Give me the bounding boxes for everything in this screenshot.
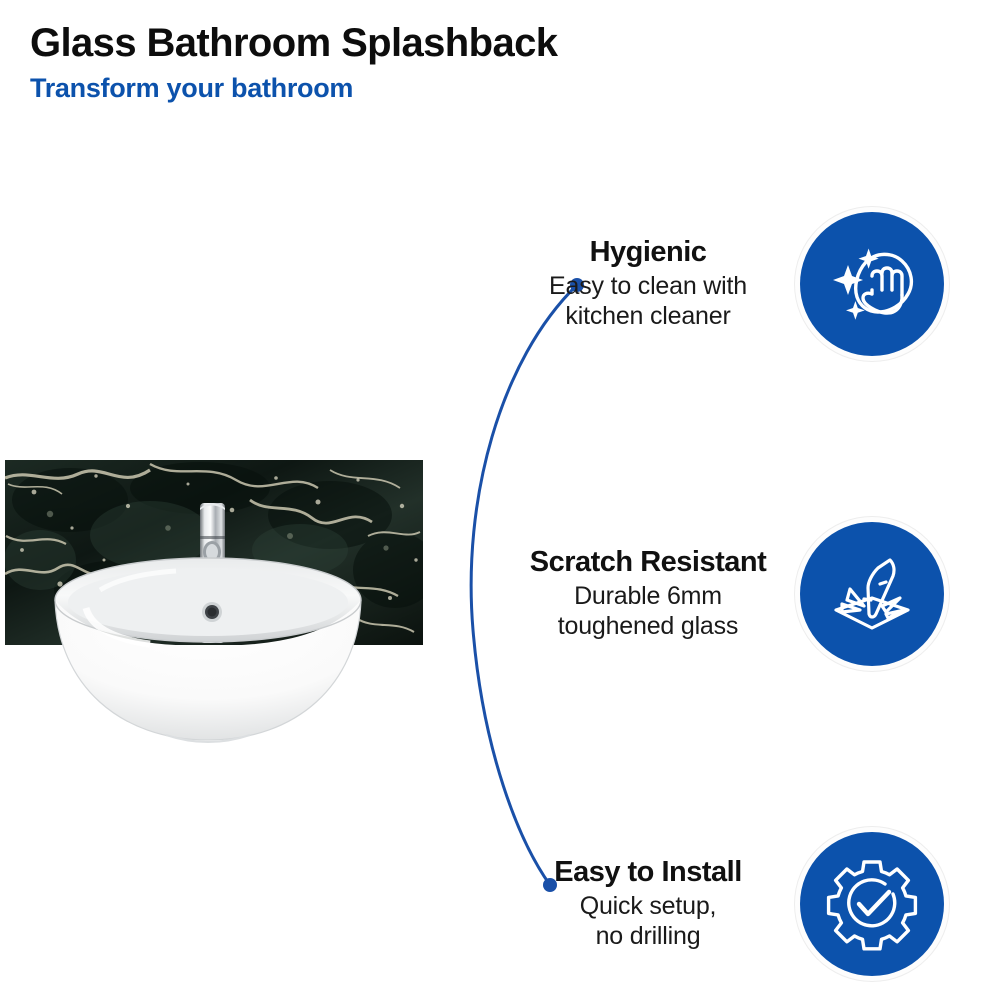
feature-text: Hygienic Easy to clean with kitchen clea… <box>520 236 800 331</box>
ceramic-basin <box>55 558 361 742</box>
page-title: Glass Bathroom Splashback <box>30 22 730 64</box>
infographic-canvas: Glass Bathroom Splashback Transform your… <box>0 0 1000 1000</box>
feature-body-line-1: Durable 6mm <box>520 581 776 612</box>
page-subtitle: Transform your bathroom <box>30 74 730 104</box>
feature-body-line-2: no drilling <box>520 921 776 952</box>
feature-heading: Scratch Resistant <box>520 546 776 578</box>
feature-heading: Hygienic <box>520 236 776 268</box>
product-image <box>0 440 440 770</box>
feature-easy-to-install: Easy to Install Quick setup, no drilling <box>520 832 944 976</box>
feature-body-line-1: Easy to clean with <box>520 271 776 302</box>
header: Glass Bathroom Splashback Transform your… <box>30 22 730 104</box>
feature-scratch-resistant: Scratch Resistant Durable 6mm toughened … <box>520 522 944 666</box>
feature-body-line-2: toughened glass <box>520 611 776 642</box>
gear-checkmark-icon <box>800 832 944 976</box>
knife-scratch-surface-icon <box>800 522 944 666</box>
feature-body-line-2: kitchen cleaner <box>520 301 776 332</box>
feature-body-line-1: Quick setup, <box>520 891 776 922</box>
hand-wiping-sparkle-icon <box>800 212 944 356</box>
feature-text: Easy to Install Quick setup, no drilling <box>520 856 800 951</box>
feature-hygienic: Hygienic Easy to clean with kitchen clea… <box>520 212 944 356</box>
feature-heading: Easy to Install <box>520 856 776 888</box>
feature-text: Scratch Resistant Durable 6mm toughened … <box>520 546 800 641</box>
